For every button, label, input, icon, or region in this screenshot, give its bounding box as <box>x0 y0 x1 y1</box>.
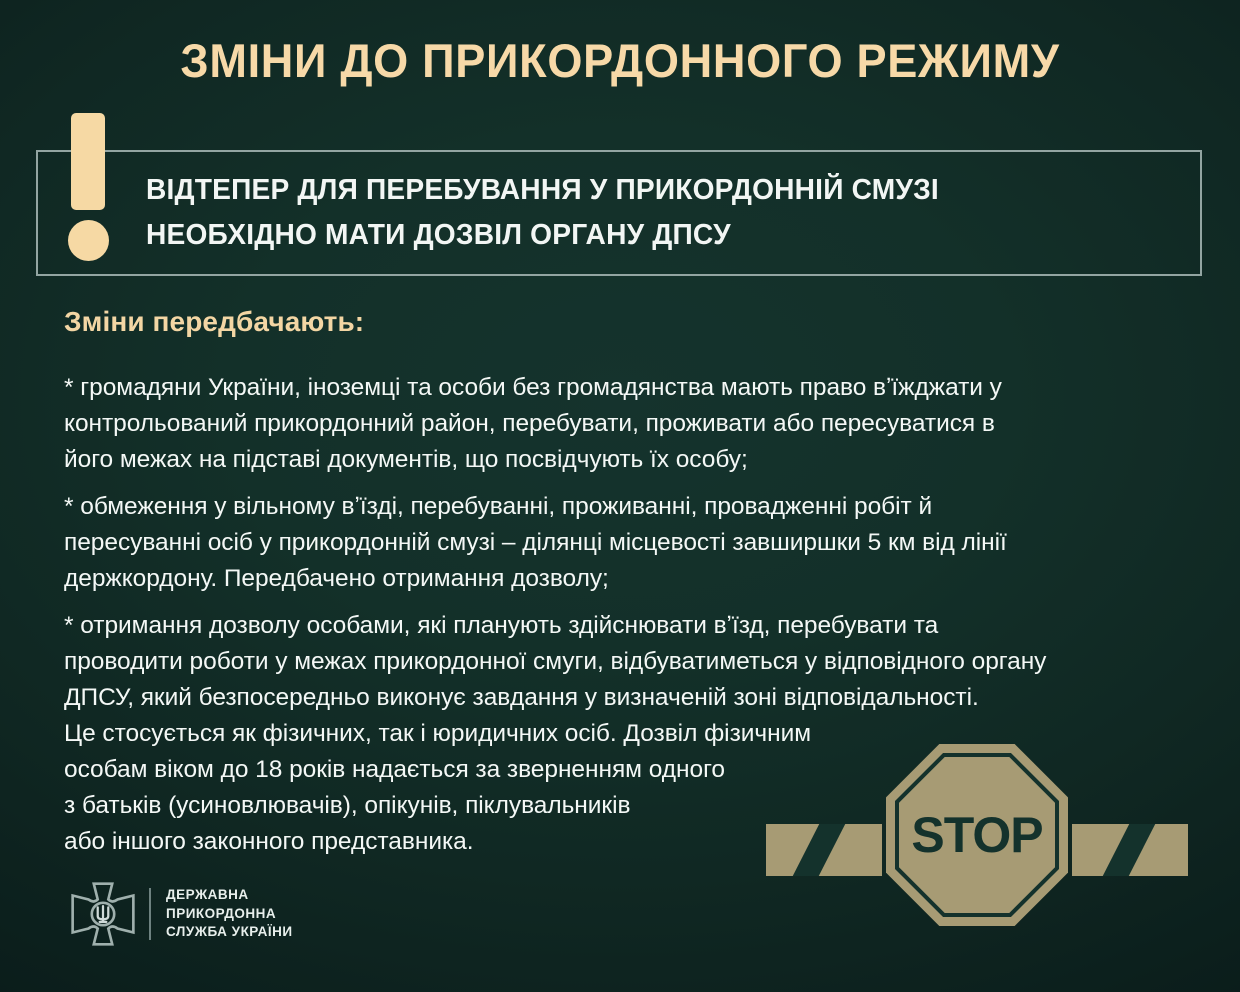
exclamation-bar <box>71 113 105 210</box>
page-title: ЗМІНИ ДО ПРИКОРДОННОГО РЕЖИМУ <box>25 34 1215 88</box>
stop-sign-illustration: STOP <box>766 744 1240 959</box>
logo-line-2: ПРИКОРДОННА <box>166 905 293 924</box>
exclamation-mark-icon <box>71 113 105 261</box>
paragraph-line: * громадяни України, іноземці та особи б… <box>64 370 1184 406</box>
border-guard-logo: ДЕРЖАВНА ПРИКОРДОННА СЛУЖБА УКРАЇНИ <box>70 878 293 950</box>
paragraph-2: * обмеження у вільному вʼїзді, перебуван… <box>64 489 1184 597</box>
callout-line-1: ВІДТЕПЕР ДЛЯ ПЕРЕБУВАННЯ У ПРИКОРДОННІЙ … <box>146 168 1145 213</box>
barrier-stripe <box>786 824 853 876</box>
paragraph-1: * громадяни України, іноземці та особи б… <box>64 370 1184 478</box>
logo-text: ДЕРЖАВНА ПРИКОРДОННА СЛУЖБА УКРАЇНИ <box>166 886 293 942</box>
paragraph-line: його межах на підставі документів, що по… <box>64 442 1184 478</box>
logo-divider <box>149 888 151 940</box>
body-subheading: Зміни передбачають: <box>64 306 364 338</box>
paragraph-line: держкордону. Передбачено отримання дозво… <box>64 561 1184 597</box>
callout-line-2: НЕОБХІДНО МАТИ ДОЗВІЛ ОРГАНУ ДПСУ <box>146 213 1145 258</box>
logo-line-1: ДЕРЖАВНА <box>166 886 293 905</box>
paragraph-line: контрольований прикордонний район, переб… <box>64 406 1184 442</box>
barrier-stripe <box>1096 824 1163 876</box>
border-barrier-left-icon <box>766 824 882 876</box>
paragraph-line: проводити роботи у межах прикордонної см… <box>64 644 1184 680</box>
paragraph-line: * отримання дозволу особами, які плануют… <box>64 608 1184 644</box>
callout-text: ВІДТЕПЕР ДЛЯ ПЕРЕБУВАННЯ У ПРИКОРДОННІЙ … <box>146 168 1145 258</box>
border-guard-cross-trident-emblem-icon <box>70 881 136 947</box>
paragraph-line: * обмеження у вільному вʼїзді, перебуван… <box>64 489 1184 525</box>
infographic-poster: ЗМІНИ ДО ПРИКОРДОННОГО РЕЖИМУ ВІДТЕПЕР Д… <box>0 0 1240 992</box>
stop-sign-icon: STOP <box>886 744 1068 926</box>
paragraph-line: ДПСУ, який безпосередньо виконує завданн… <box>64 680 1184 716</box>
logo-line-3: СЛУЖБА УКРАЇНИ <box>166 923 293 942</box>
exclamation-dot <box>68 220 109 261</box>
stop-sign-label: STOP <box>886 744 1068 926</box>
border-barrier-right-icon <box>1072 824 1188 876</box>
paragraph-line: пересуванні осіб у прикордонній смузі – … <box>64 525 1184 561</box>
